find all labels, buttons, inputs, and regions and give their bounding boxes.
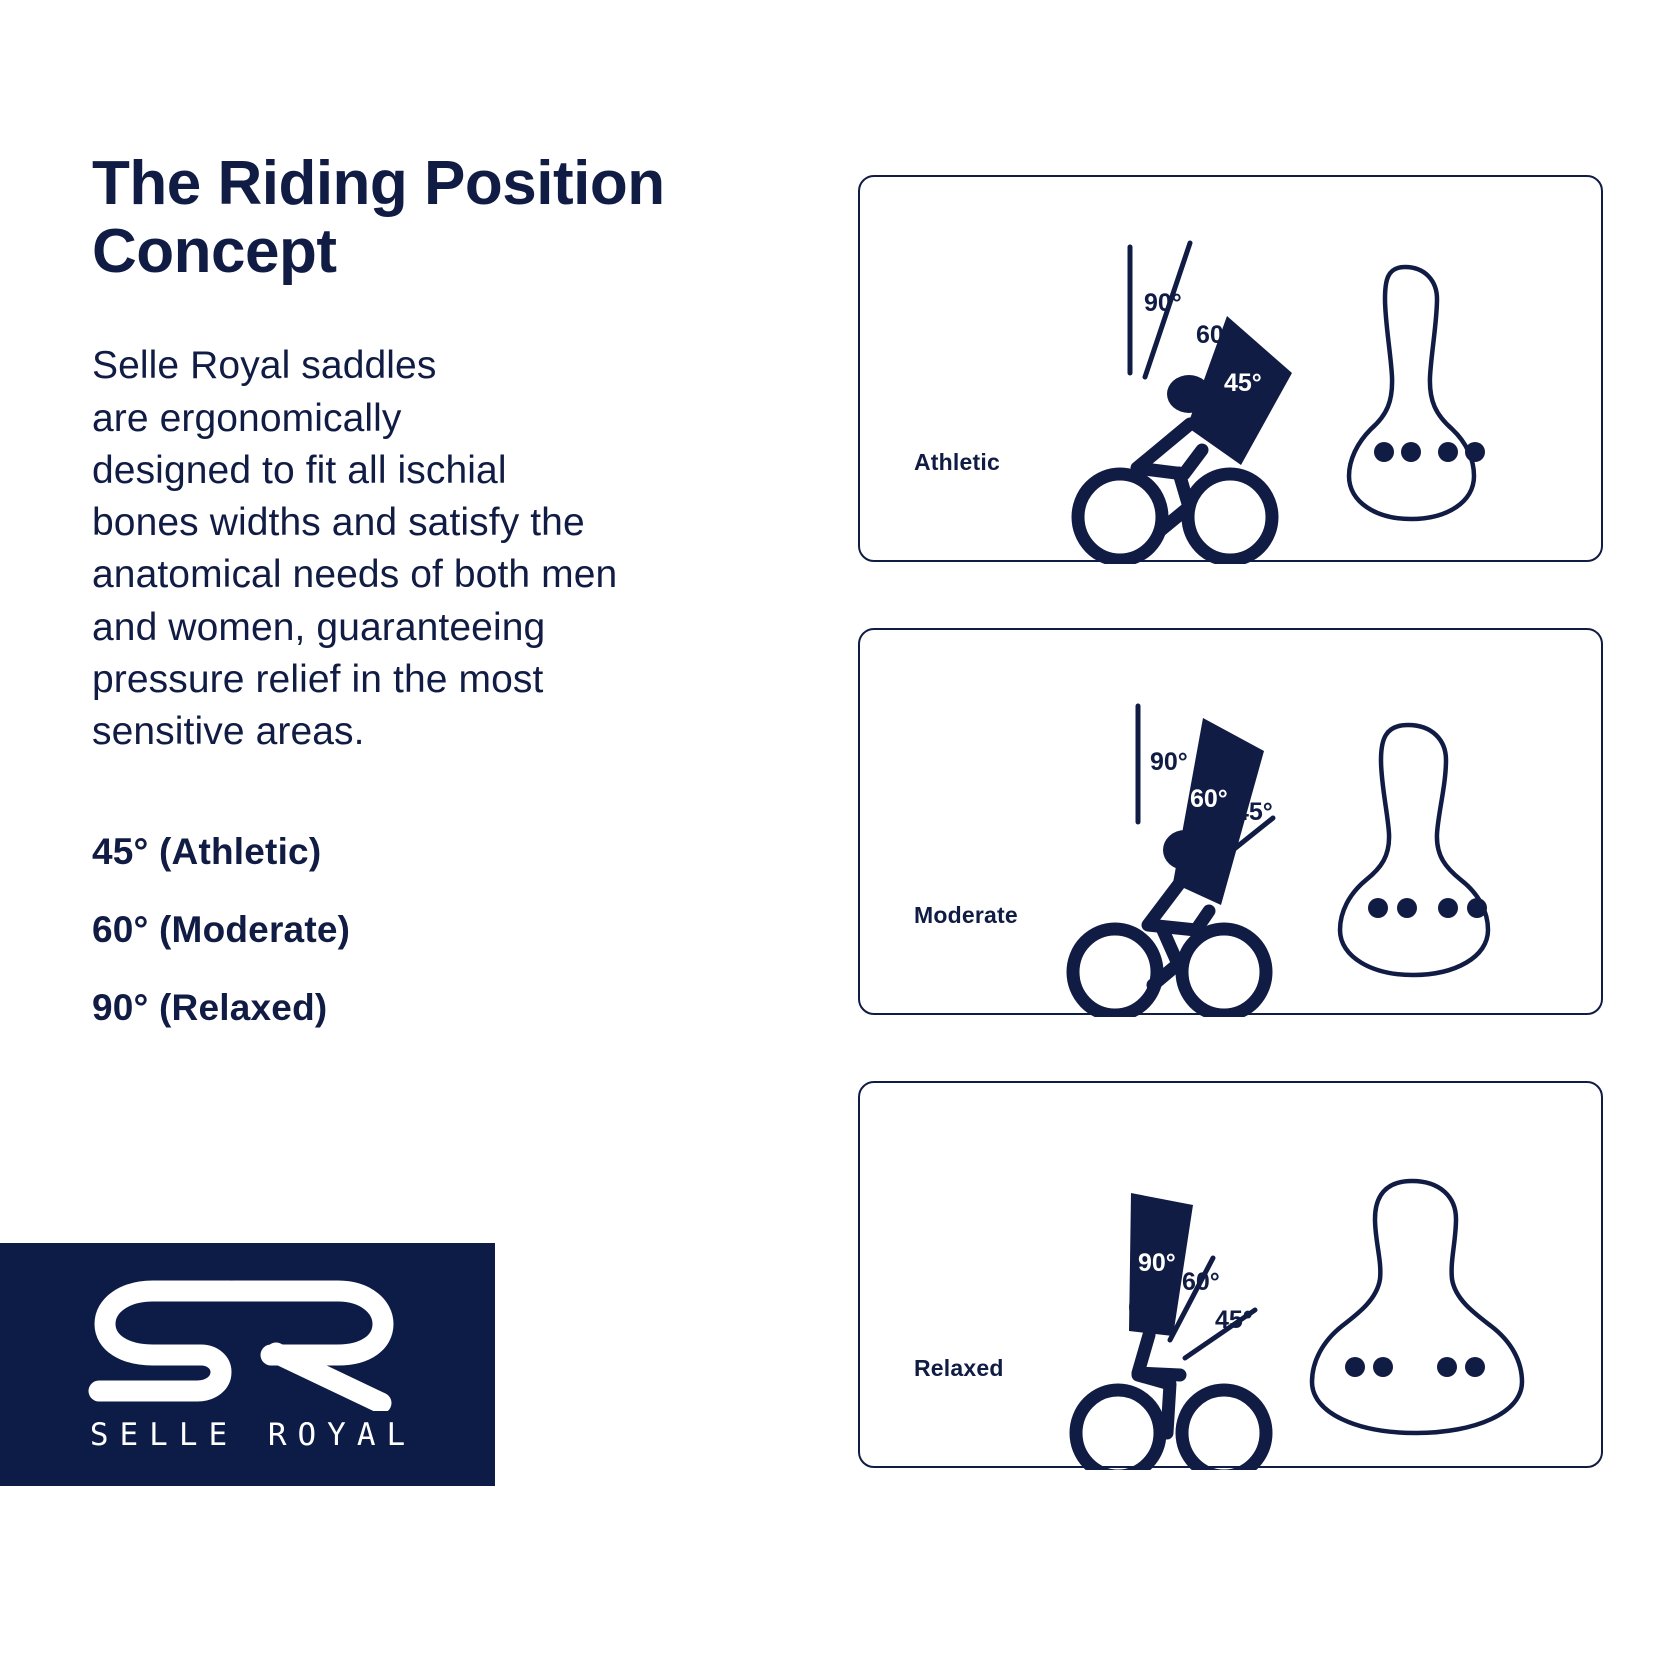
angle-label-45: 45° [1224,369,1262,397]
angle-label-45: 45° [1235,798,1273,826]
cyclist-head [1129,1287,1171,1327]
wheel-front [1182,1390,1266,1470]
saddle-outline-relaxed [1312,1181,1522,1433]
wheel-rear [1078,474,1162,560]
riding-position-card-moderate[interactable]: Moderate [858,628,1603,1015]
cyclist-legs [1161,473,1189,530]
angle-label-60: 60° [1196,321,1234,349]
ischial-dots-athletic [1374,442,1485,462]
card-label-athletic: Athletic [914,449,1000,476]
cyclist-torso-arm [1148,880,1209,930]
infographic-page: The Riding Position Concept Selle Royal … [0,0,1667,1667]
page-title: The Riding Position Concept [92,150,772,286]
card-art-athletic: 90° 60° 45° [860,177,1605,564]
angle-line-45 [1198,818,1273,878]
card-label-relaxed: Relaxed [914,1355,1004,1382]
ischial-dots-relaxed [1345,1357,1485,1377]
angle-legend-item-athletic: 45° (Athletic) [92,833,692,870]
active-angle-wedge-90 [1129,1193,1193,1336]
saddle-outline-athletic [1349,267,1474,519]
card-art-relaxed: 90° 60° 45° [860,1083,1605,1470]
cyclist-head [1167,375,1211,413]
angle-legend-item-relaxed: 90° (Relaxed) [92,989,692,1026]
angle-label-45: 45° [1215,1306,1253,1334]
angle-label-60: 60° [1190,785,1228,813]
riding-position-card-relaxed[interactable]: Relaxed [858,1081,1603,1468]
riding-position-card-athletic[interactable]: Athletic [858,175,1603,562]
wheel-front [1182,929,1266,1015]
logo-wordmark: SELLE ROYAL [79,1417,416,1453]
wheel-rear [1076,1390,1160,1470]
angle-label-90: 90° [1144,289,1182,317]
ischial-dots-moderate [1368,898,1487,918]
angle-label-60: 60° [1182,1268,1220,1296]
sr-monogram-icon [83,1277,413,1411]
angle-line-60 [1170,1258,1213,1340]
angle-line-60 [1145,243,1190,377]
saddle-outline-moderate [1340,725,1488,975]
angle-label-90: 90° [1138,1249,1176,1277]
angle-legend-item-moderate: 60° (Moderate) [92,911,692,948]
wheel-rear [1073,929,1157,1015]
body-copy: Selle Royal saddles are ergonomically de… [92,340,772,758]
cyclist-torso-arm [1138,1335,1180,1375]
wheel-front [1188,474,1272,560]
cyclist-legs [1153,928,1178,985]
active-angle-wedge-60 [1173,718,1264,905]
text-column: The Riding Position Concept Selle Royal … [92,150,772,758]
cyclist-torso-arm [1137,424,1202,474]
card-label-moderate: Moderate [914,902,1018,929]
angle-line-45 [1185,1310,1255,1358]
brand-logo-block: SELLE ROYAL [0,1243,495,1486]
card-art-moderate: 90° 60° 45° [860,630,1605,1017]
angle-label-90: 90° [1150,748,1188,776]
angle-legend-list: 45° (Athletic) 60° (Moderate) 90° (Relax… [92,833,692,1067]
active-angle-wedge-45 [1187,316,1292,465]
cyclist-head [1163,830,1207,870]
cyclist-legs [1138,1375,1170,1433]
